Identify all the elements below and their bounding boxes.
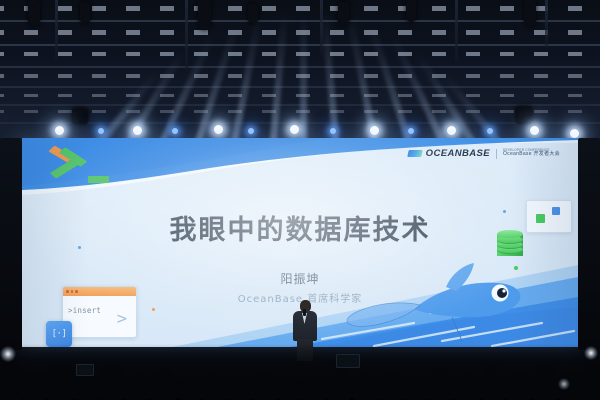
hanging-light-fixture bbox=[406, 0, 416, 22]
decorative-dot bbox=[152, 308, 155, 311]
event-name-block: DEVELOPER CONFERENCE OceanBase 开发者大会 bbox=[503, 149, 560, 158]
hanging-light-fixture bbox=[72, 108, 88, 124]
stage-floor bbox=[0, 344, 600, 400]
slide-title: 我眼中的数据库技术 bbox=[22, 208, 578, 247]
brand-divider bbox=[496, 149, 497, 159]
oceanbase-logo-mark bbox=[407, 150, 422, 157]
hanging-light-fixture bbox=[524, 0, 536, 27]
pa-speaker-stack bbox=[0, 138, 22, 350]
microphone-icon bbox=[303, 309, 306, 316]
speaker-name: 阳振坤 bbox=[22, 270, 578, 287]
oceanbase-wordmark: OCEANBASE bbox=[426, 148, 490, 159]
pa-speaker-stack bbox=[578, 138, 600, 350]
hanging-light-fixture bbox=[80, 2, 90, 24]
oceanbase-brand-lockup: OCEANBASE DEVELOPER CONFERENCE OceanBase… bbox=[408, 148, 560, 159]
hanging-light-fixture bbox=[28, 0, 40, 26]
badge-glyph-text: [·] bbox=[52, 329, 67, 339]
hanging-light-fixture bbox=[248, 4, 258, 24]
ceiling-truss bbox=[0, 0, 600, 150]
hanging-light-fixture bbox=[198, 0, 211, 30]
stage-scene: OCEANBASE DEVELOPER CONFERENCE OceanBase… bbox=[0, 0, 600, 400]
hanging-light-fixture bbox=[516, 106, 532, 124]
terminal-chevron-icon: > bbox=[117, 311, 127, 328]
event-name-cn: OceanBase 开发者大会 bbox=[503, 152, 560, 158]
terminal-command-text: >insert bbox=[68, 306, 101, 315]
hanging-light-fixture bbox=[338, 2, 349, 26]
